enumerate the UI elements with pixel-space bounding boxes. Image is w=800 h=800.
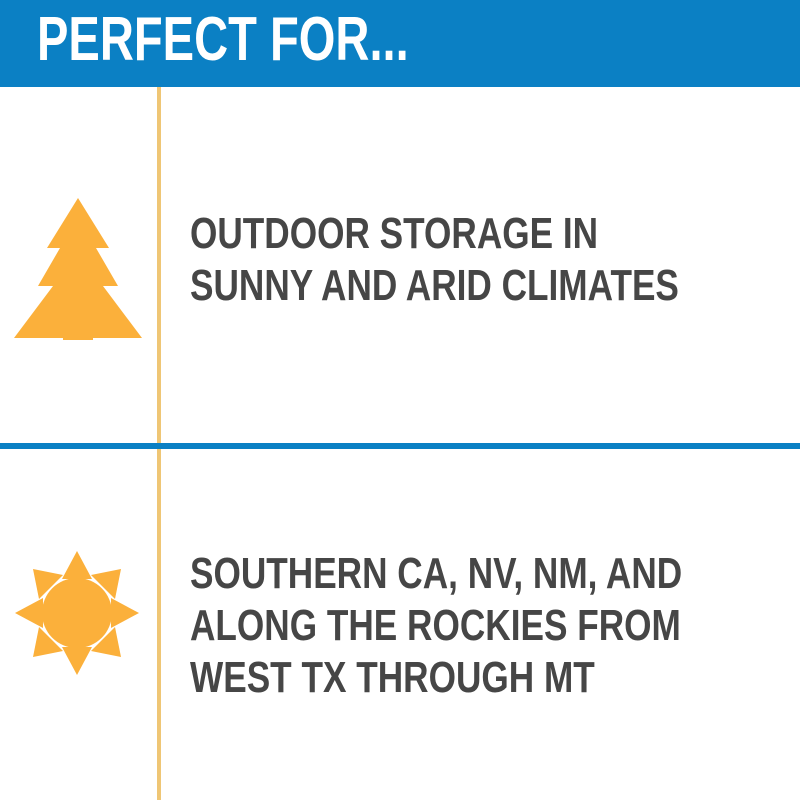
- feature-row-regions: SOUTHERN CA, NV, NM, AND ALONG THE ROCKI…: [0, 449, 800, 800]
- perfect-for-infographic: PERFECT FOR... OUTDOOR STORAGE IN SUNNY …: [0, 0, 800, 800]
- feature-text-outdoor-storage: OUTDOOR STORAGE IN SUNNY AND ARID CLIMAT…: [190, 208, 679, 312]
- feature-text-line: SUNNY AND ARID CLIMATES: [190, 260, 679, 312]
- text-cell-regions: SOUTHERN CA, NV, NM, AND ALONG THE ROCKI…: [190, 449, 790, 800]
- feature-row-outdoor-storage: OUTDOOR STORAGE IN SUNNY AND ARID CLIMAT…: [0, 87, 800, 443]
- feature-text-line: WEST TX THROUGH MT: [190, 652, 682, 704]
- feature-text-line: ALONG THE ROCKIES FROM: [190, 600, 682, 652]
- feature-text-line: SOUTHERN CA, NV, NM, AND: [190, 548, 682, 600]
- evergreen-tree-icon: [14, 198, 142, 340]
- feature-text-regions: SOUTHERN CA, NV, NM, AND ALONG THE ROCKI…: [190, 548, 682, 704]
- icon-cell-sun: [0, 449, 157, 800]
- icon-cell-tree: [0, 87, 157, 443]
- sun-icon: [15, 551, 139, 675]
- page-title: PERFECT FOR...: [37, 6, 409, 74]
- header-bar: PERFECT FOR...: [0, 0, 800, 87]
- text-cell-outdoor-storage: OUTDOOR STORAGE IN SUNNY AND ARID CLIMAT…: [190, 87, 790, 443]
- feature-text-line: OUTDOOR STORAGE IN: [190, 208, 679, 260]
